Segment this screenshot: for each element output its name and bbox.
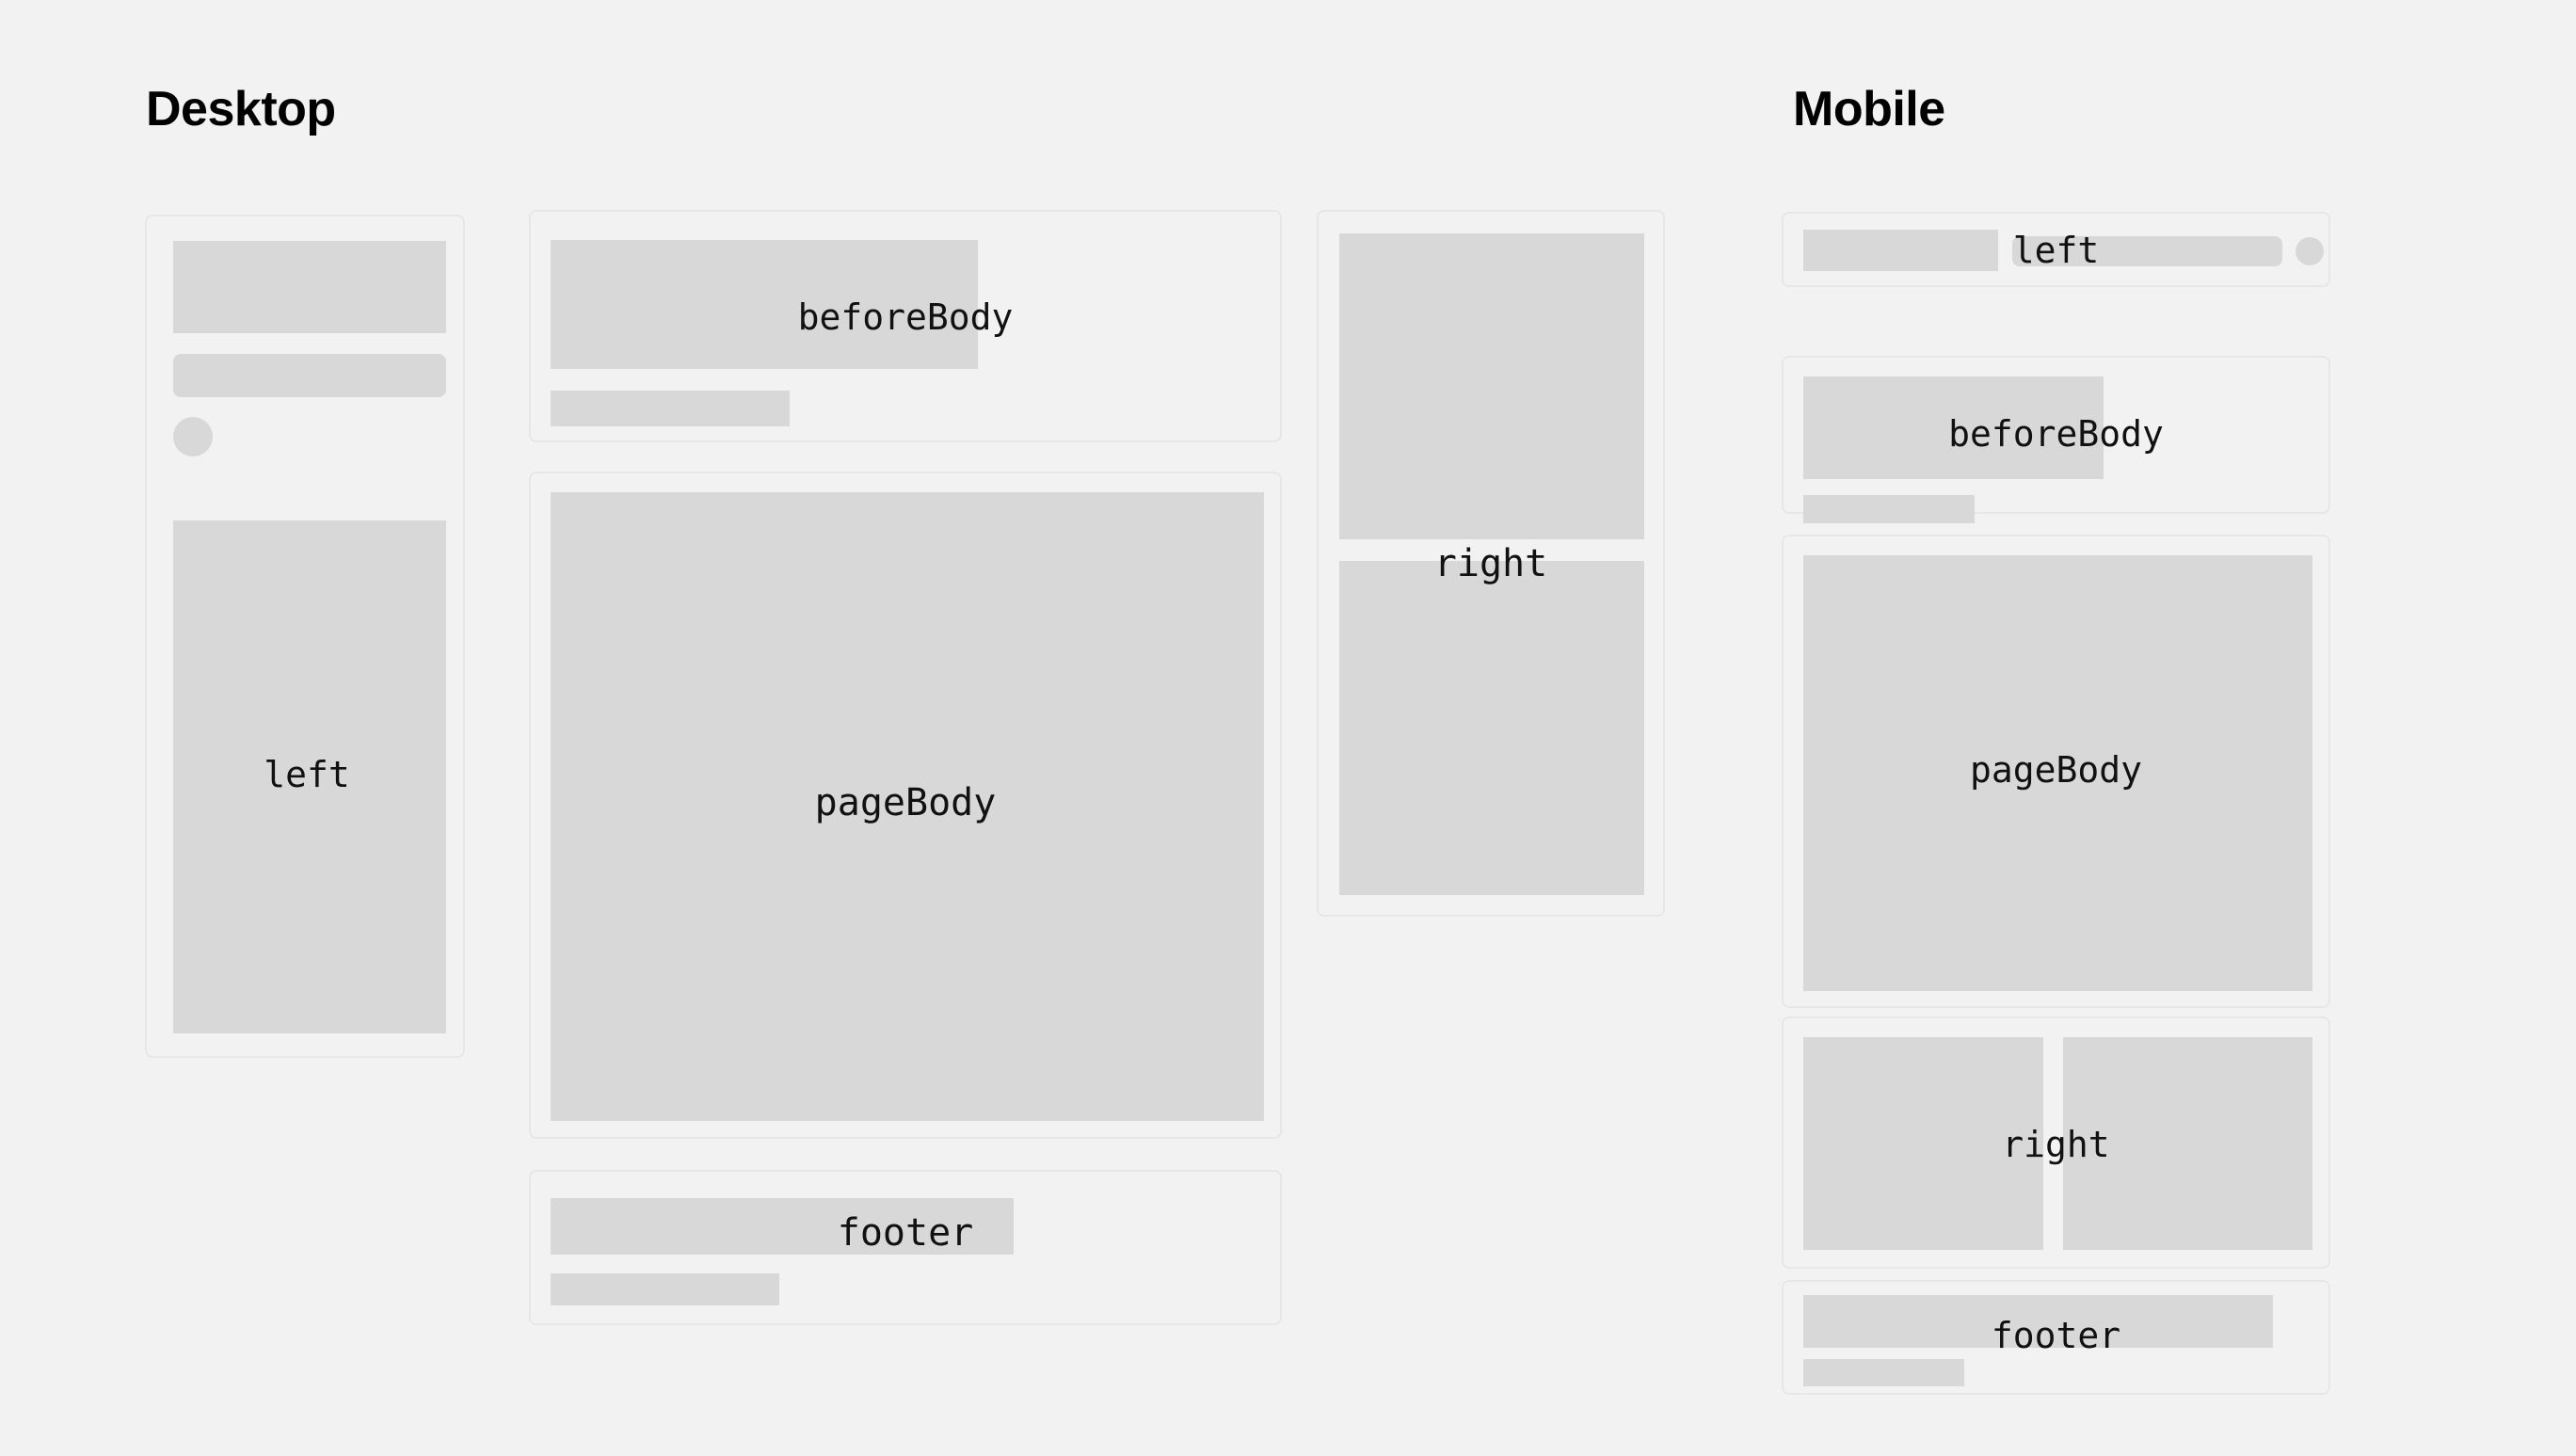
desktop-left-avatar-dot[interactable] xyxy=(173,417,213,456)
mobile-footer-bar xyxy=(1803,1295,2273,1348)
desktop-footer-bar xyxy=(551,1198,1014,1255)
mobile-left-avatar-dot[interactable] xyxy=(2296,237,2324,265)
desktop-right-panel[interactable] xyxy=(1317,210,1665,917)
desktop-left-search-bar[interactable] xyxy=(173,354,446,397)
mobile-pagebody-content-block xyxy=(1803,555,2312,991)
desktop-footer-panel[interactable] xyxy=(529,1170,1282,1325)
wireframe-canvas: Desktop left beforeBody pageBody right f… xyxy=(0,0,2576,1456)
mobile-footer-panel[interactable] xyxy=(1782,1280,2330,1395)
desktop-footer-caption xyxy=(551,1273,779,1305)
desktop-section-title: Desktop xyxy=(146,85,336,134)
mobile-left-header-block xyxy=(1803,230,1998,271)
desktop-pagebody-panel[interactable] xyxy=(529,472,1282,1139)
mobile-pagebody-panel[interactable] xyxy=(1782,535,2330,1008)
mobile-left-search-bar[interactable] xyxy=(2012,236,2282,266)
desktop-right-widget-block-bottom xyxy=(1339,561,1644,895)
mobile-beforebody-caption-bar xyxy=(1803,495,1975,523)
mobile-left-panel[interactable] xyxy=(1782,212,2330,287)
mobile-beforebody-panel[interactable] xyxy=(1782,356,2330,514)
desktop-pagebody-content-block xyxy=(551,492,1264,1121)
desktop-right-widget-block-top xyxy=(1339,233,1644,539)
mobile-footer-caption xyxy=(1803,1359,1964,1386)
mobile-right-widget-block-right xyxy=(2063,1037,2312,1250)
mobile-section-title: Mobile xyxy=(1793,85,1945,134)
mobile-beforebody-banner-block xyxy=(1803,376,2104,479)
desktop-beforebody-caption-bar xyxy=(551,391,790,426)
mobile-right-panel[interactable] xyxy=(1782,1016,2330,1269)
desktop-left-nav-block xyxy=(173,520,446,1033)
desktop-left-header-block xyxy=(173,241,446,333)
desktop-beforebody-banner-block xyxy=(551,240,978,369)
desktop-beforebody-panel[interactable] xyxy=(529,210,1282,442)
mobile-right-widget-block-left xyxy=(1803,1037,2043,1250)
desktop-left-panel[interactable]: left xyxy=(145,215,465,1058)
